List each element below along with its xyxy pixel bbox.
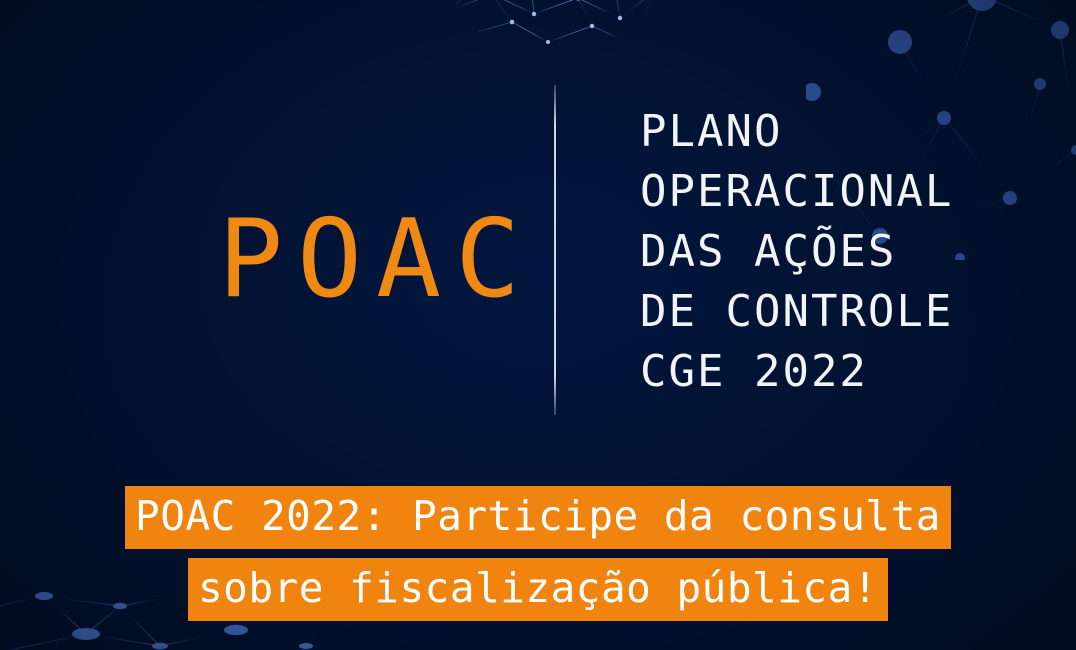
headline-block: PLANO OPERACIONAL DAS AÇÕES DE CONTROLE …	[640, 102, 1040, 402]
banner-line-1: POAC 2022: Participe da consulta	[125, 486, 951, 549]
vertical-divider	[554, 85, 556, 415]
consultation-banner: POAC 2022: Participe da consulta sobre f…	[0, 486, 1076, 621]
poac-poster: POAC PLANO OPERACIONAL DAS AÇÕES DE CONT…	[0, 0, 1076, 650]
headline-line-4: DE CONTROLE	[640, 282, 1040, 342]
network-globe-top-icon	[434, 0, 678, 56]
headline-line-1: PLANO	[640, 102, 1040, 162]
headline-line-2: OPERACIONAL	[640, 162, 1040, 222]
headline-line-5: CGE 2022	[640, 342, 1040, 402]
poac-wordmark: POAC	[218, 206, 538, 314]
banner-line-2: sobre fiscalização pública!	[188, 558, 888, 621]
headline-line-3: DAS AÇÕES	[640, 222, 1040, 282]
